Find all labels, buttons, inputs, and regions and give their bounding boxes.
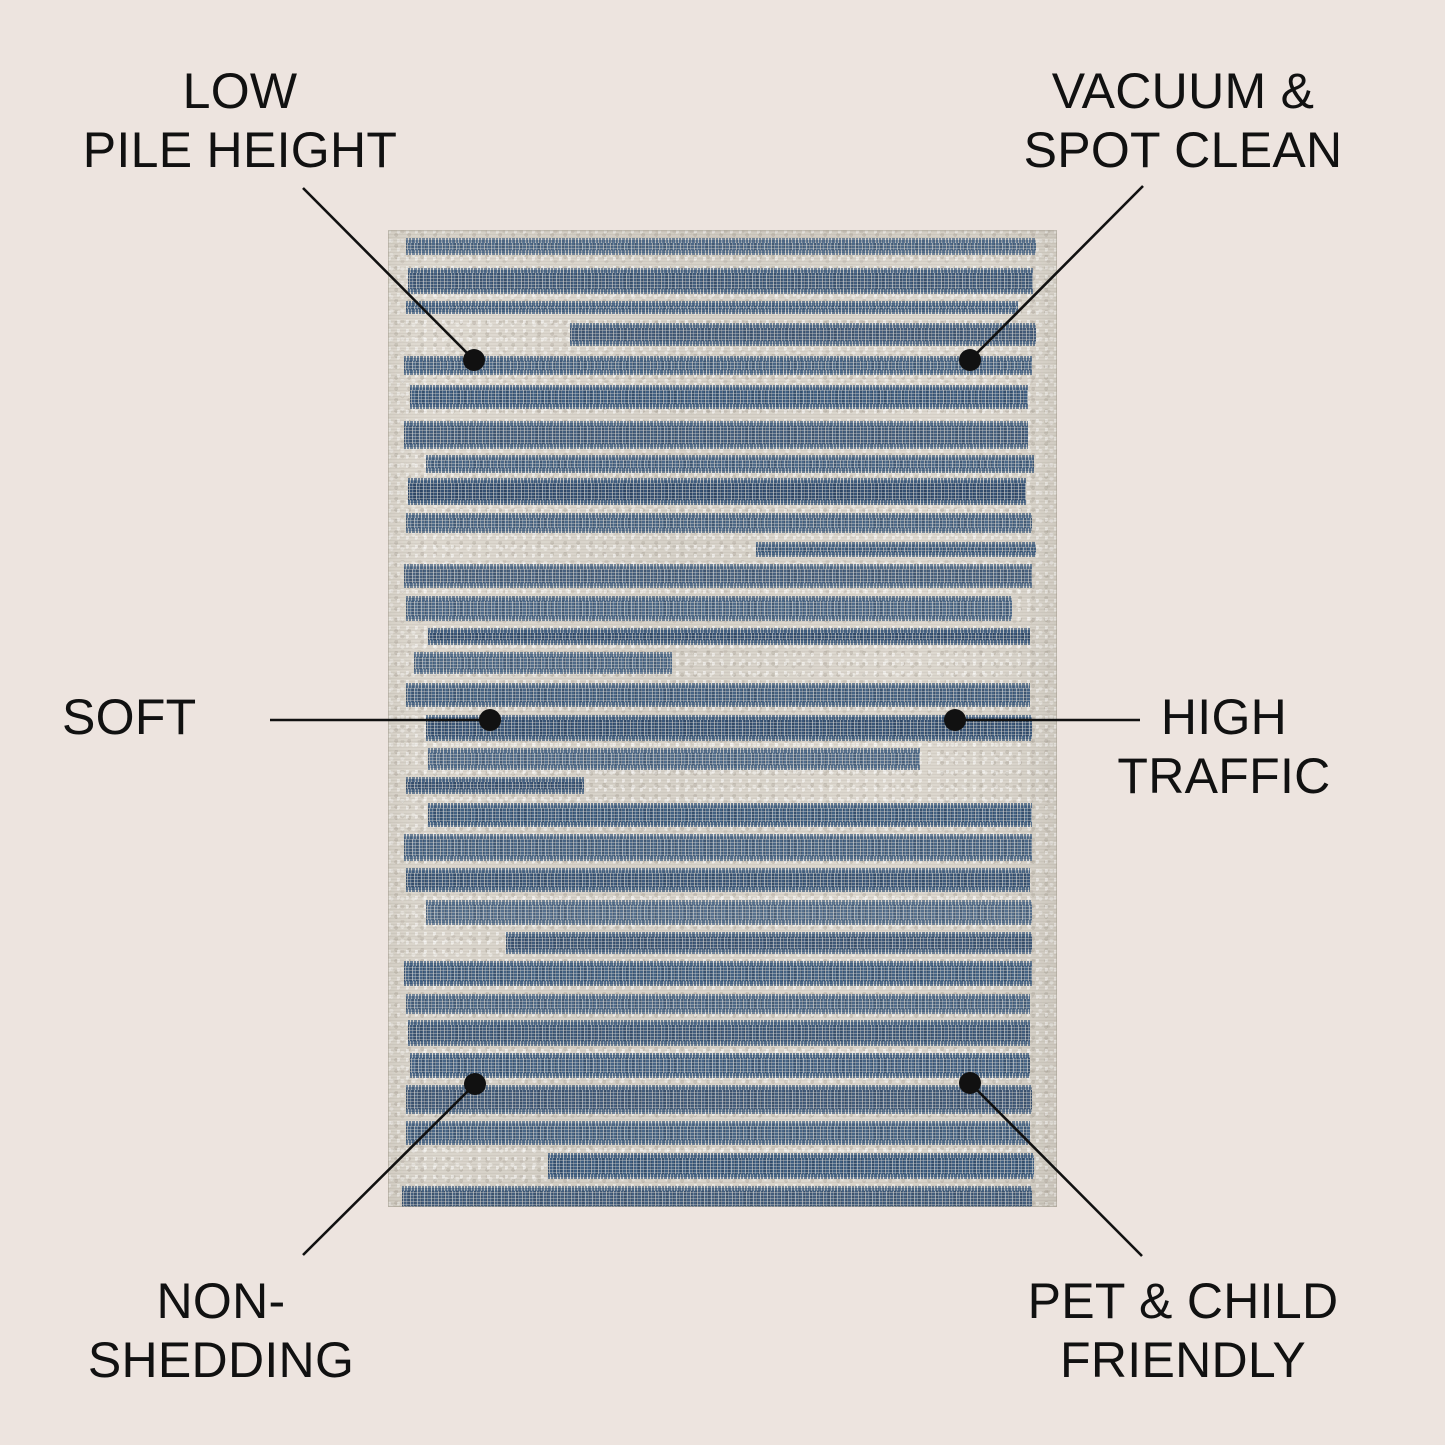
rug-stripe (406, 685, 1030, 705)
callout-label-soft: SOFT (62, 688, 292, 747)
rug-stripe (506, 934, 1032, 952)
rug-stripe (428, 630, 1030, 643)
callout-label-pet-child-friendly: PET & CHILD FRIENDLY (973, 1272, 1393, 1390)
rug-stripe (404, 963, 1032, 984)
rug-stripe (406, 515, 1032, 531)
rug-stripe (426, 902, 1032, 923)
rug-stripe (406, 779, 584, 792)
rug-stripe (404, 566, 1032, 586)
rug-stripe (404, 423, 1028, 447)
rug-stripe (426, 457, 1034, 471)
callout-label-vacuum-spot-clean: VACUUM & SPOT CLEAN (973, 62, 1393, 180)
rug-stripe (408, 1022, 1030, 1044)
rug-product-image (388, 230, 1057, 1207)
callout-label-non-shedding: NON- SHEDDING (56, 1272, 386, 1390)
rug-stripe (426, 717, 1032, 739)
rug-stripe (406, 1123, 1030, 1143)
rug-stripe (404, 358, 1032, 373)
rug-stripe (428, 805, 1032, 825)
rug-stripe (408, 270, 1033, 292)
rug-stripe (406, 240, 1036, 253)
rug-stripe (406, 870, 1030, 890)
rug-stripe (406, 996, 1030, 1012)
rug-stripe (756, 544, 1036, 555)
rug-stripe (410, 1055, 1030, 1076)
rug-stripe (428, 750, 920, 768)
rug-stripe (570, 325, 1036, 344)
rug-stripe (406, 1087, 1032, 1112)
rug-stripe (404, 836, 1032, 859)
callout-label-high-traffic: HIGH TRAFFIC (1059, 688, 1389, 806)
rug-stripe (408, 480, 1026, 503)
rug-stripe (414, 654, 672, 672)
infographic-canvas: LOW PILE HEIGHT VACUUM & SPOT CLEAN SOFT… (0, 0, 1445, 1445)
callout-label-low-pile-height: LOW PILE HEIGHT (60, 62, 420, 180)
rug-stripe (410, 387, 1028, 407)
rug-stripe (402, 1188, 1032, 1207)
rug-stripe (406, 598, 1012, 619)
rug-stripe (548, 1155, 1034, 1177)
rug-stripe (406, 303, 1018, 312)
